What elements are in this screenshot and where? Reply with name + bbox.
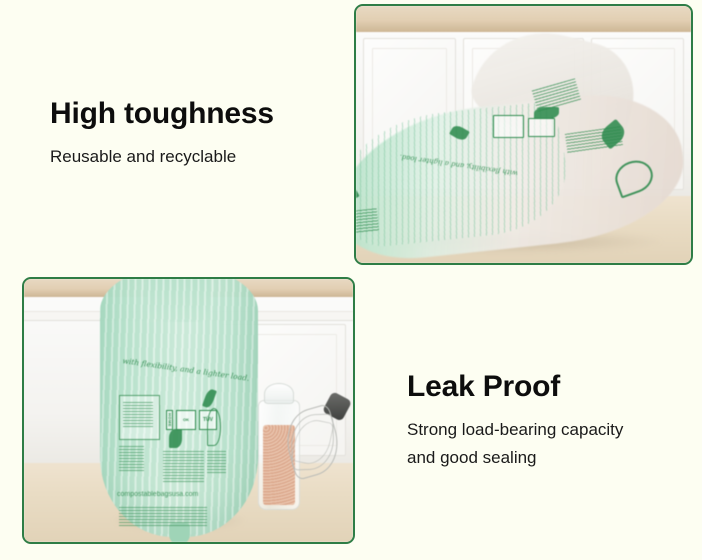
- feature-title-leak-proof: Leak Proof: [407, 370, 623, 403]
- photo-bag-filled: with flexibility, and a lighter load. HO…: [22, 277, 355, 544]
- photo-bag-stack: with flexibility, and a lighter load.: [354, 4, 693, 265]
- photo-bag-stack-scene: with flexibility, and a lighter load.: [356, 6, 691, 263]
- feature-grid: High toughness Reusable and recyclable: [0, 0, 702, 560]
- feature-text-leak-proof: Leak Proof Strong load-bearing capacity …: [407, 370, 623, 471]
- bag-info-lines: [207, 451, 226, 475]
- print-certification-badge: [528, 118, 556, 137]
- print-text-block: [356, 208, 379, 235]
- feature-description-leak-proof-line1: Strong load-bearing capacity: [407, 416, 623, 444]
- bag-tie: [169, 523, 190, 542]
- cert-home-icon: HOME: [166, 410, 173, 430]
- feature-description-high-toughness: Reusable and recyclable: [50, 143, 274, 171]
- feature-text-high-toughness: High toughness Reusable and recyclable: [50, 97, 274, 171]
- counter-edge: [356, 6, 691, 32]
- bag-info-lines: [123, 402, 153, 429]
- bag-info-lines: [163, 451, 204, 483]
- cert-seedling-icon: [207, 408, 221, 446]
- print-certification-badge: [493, 115, 524, 138]
- cert-ok-compost-icon: OK: [176, 410, 196, 430]
- bag-info-panel: [119, 395, 160, 441]
- bag-info-lines: [119, 507, 207, 526]
- whisk: [284, 395, 350, 484]
- bag-printed-url: compostablebagsusa.com: [117, 491, 198, 498]
- feature-description-leak-proof-line2: and good sealing: [407, 444, 623, 472]
- compostable-bag-filled: with flexibility, and a lighter load. HO…: [100, 279, 258, 537]
- photo-bag-filled-scene: with flexibility, and a lighter load. HO…: [24, 279, 353, 542]
- bag-info-lines: [119, 446, 144, 473]
- feature-title-high-toughness: High toughness: [50, 97, 274, 130]
- compostable-bag-stack: with flexibility, and a lighter load.: [356, 104, 684, 248]
- print-leaf-icon: [169, 429, 182, 448]
